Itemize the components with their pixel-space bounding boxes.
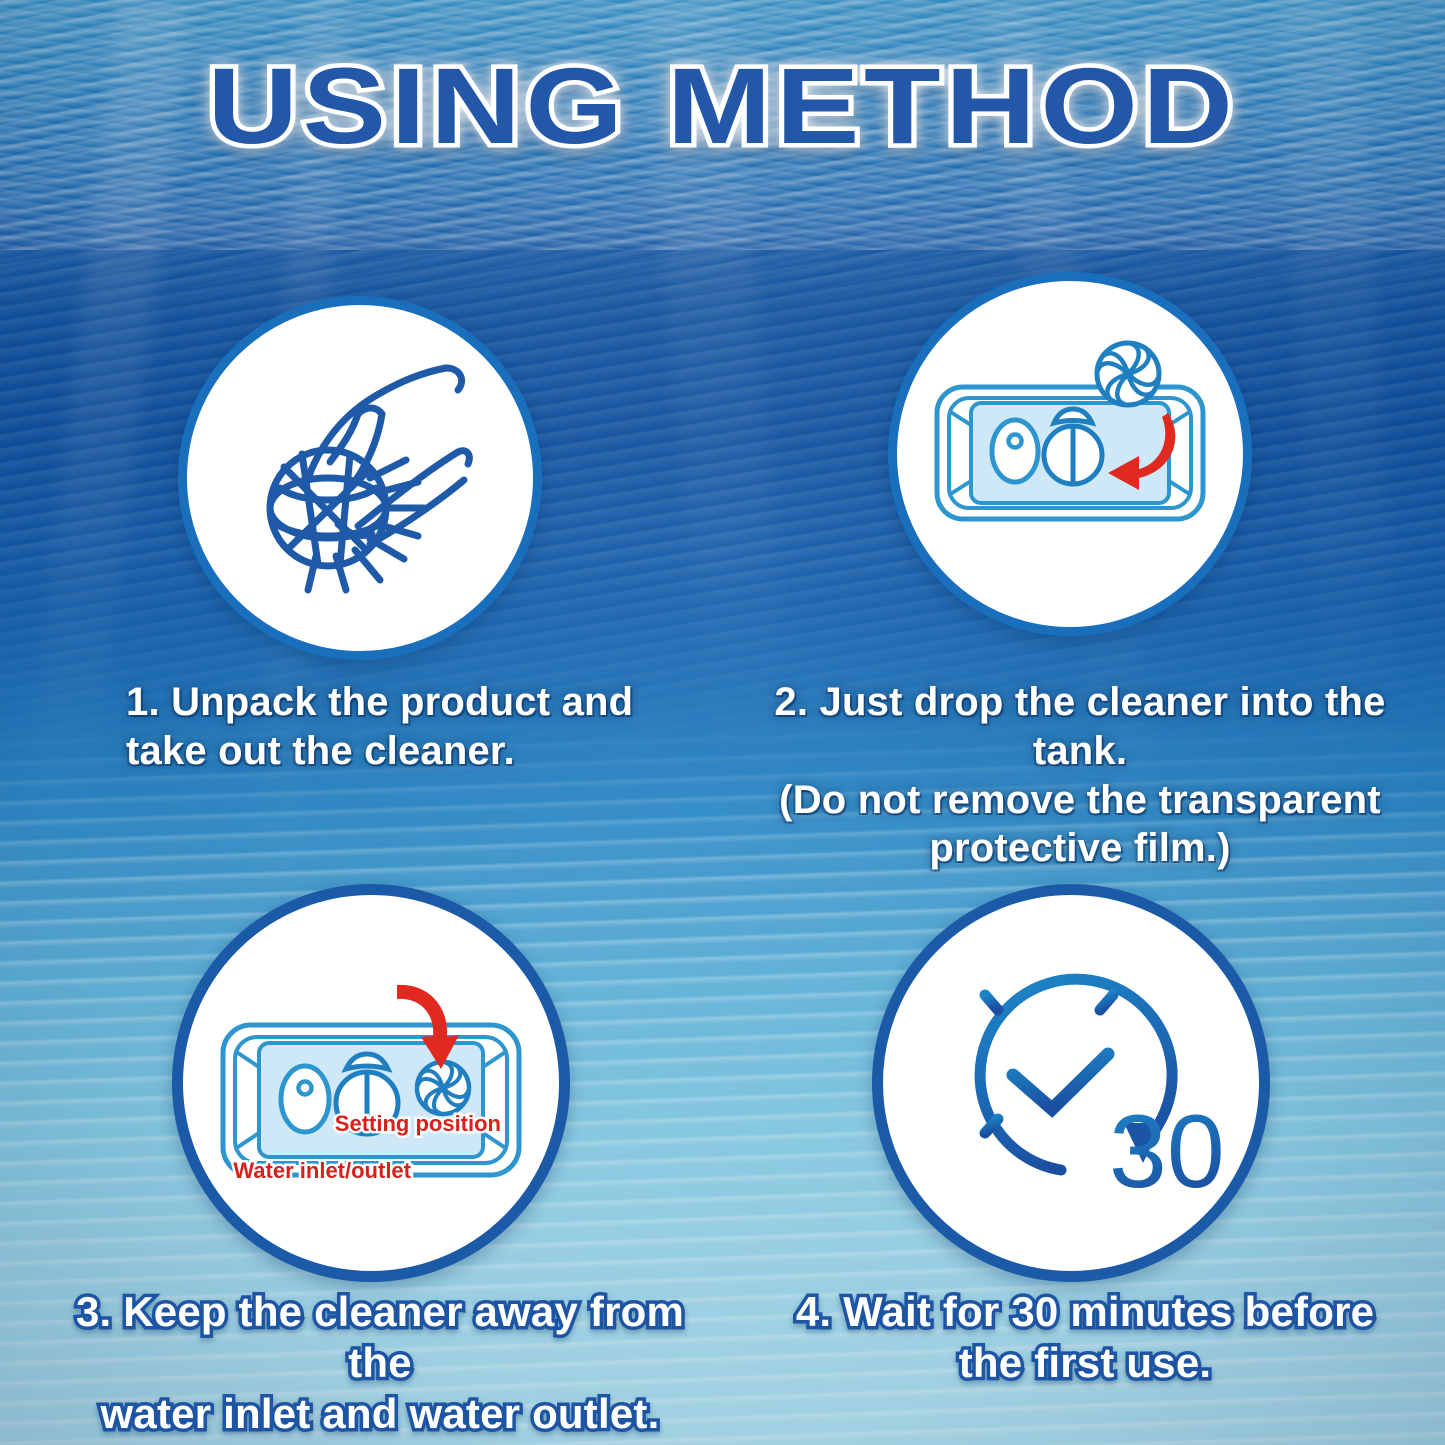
water-inlet-outlet-label: Water inlet/outlet bbox=[233, 1158, 411, 1183]
step-3-caption: 3. Keep the cleaner away from the water … bbox=[40, 1286, 720, 1440]
flush-handle-icon bbox=[1054, 409, 1092, 423]
step-1-caption: 1. Unpack the product and take out the c… bbox=[126, 678, 746, 776]
cleaner-ball-icon bbox=[1097, 343, 1159, 405]
infographic-canvas: USING METHOD bbox=[0, 0, 1445, 1445]
step-1-icon-circle bbox=[178, 296, 542, 660]
toilet-tank-setting-position-icon: Setting position Water inlet/outlet bbox=[201, 913, 541, 1253]
fill-valve-icon bbox=[281, 1066, 329, 1132]
cleaner-ball-icon bbox=[417, 1062, 469, 1114]
toilet-tank-drop-cleaner-icon bbox=[915, 299, 1225, 609]
step-4-caption: 4. Wait for 30 minutes before the first … bbox=[770, 1286, 1400, 1388]
step-2-icon-circle bbox=[888, 272, 1252, 636]
clock-hands bbox=[1013, 1054, 1108, 1109]
step-2-caption: 2. Just drop the cleaner into the tank. … bbox=[735, 678, 1425, 873]
clock-30-minutes-icon: 30 bbox=[911, 923, 1231, 1243]
step-3-icon-circle: Setting position Water inlet/outlet bbox=[172, 884, 570, 1282]
step-4-icon-circle: 30 bbox=[872, 884, 1270, 1282]
setting-position-label: Setting position bbox=[335, 1111, 501, 1136]
fill-valve-icon bbox=[992, 420, 1038, 482]
page-title: USING METHOD bbox=[0, 52, 1445, 160]
hand-holding-mesh-ball-icon bbox=[210, 328, 510, 628]
clock-minutes-value: 30 bbox=[1109, 1094, 1225, 1210]
